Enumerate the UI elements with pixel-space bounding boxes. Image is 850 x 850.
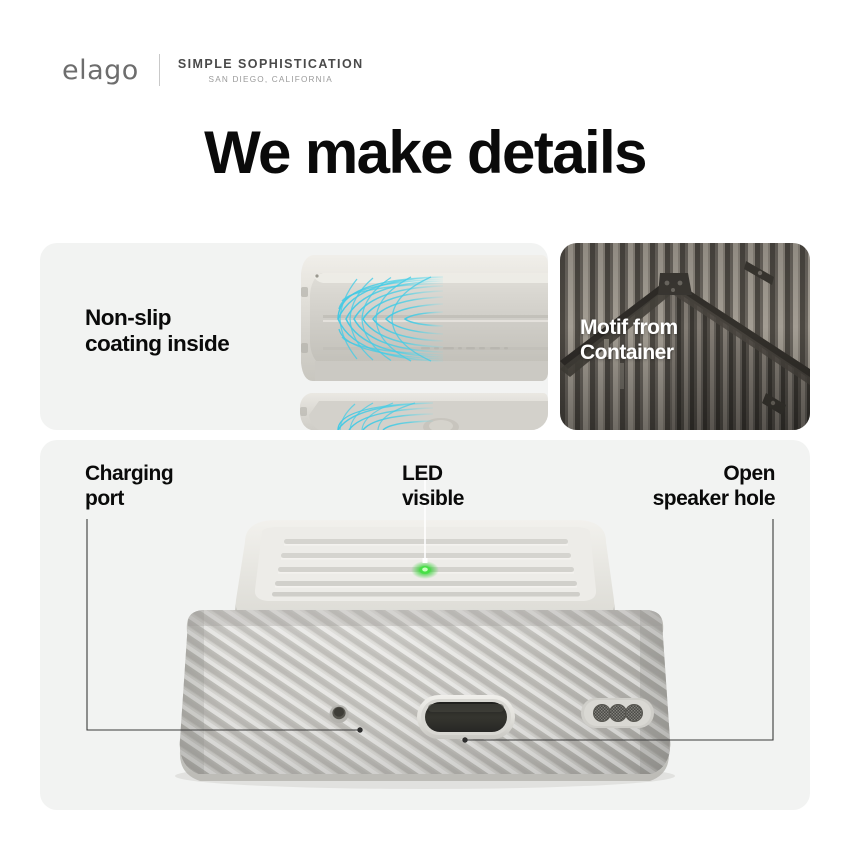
nonslip-card-label: Non-slip coating inside (85, 305, 229, 358)
feature-card-motif: Motif from Container (560, 243, 810, 430)
callout-led-visible: LED visible (402, 462, 464, 511)
microphone-hole-icon (330, 705, 349, 723)
brand-tagline: SIMPLE SOPHISTICATION (178, 57, 364, 71)
speaker-grille-three-holes-icon (581, 698, 654, 728)
vertical-divider-icon (159, 54, 160, 86)
feature-card-details: Charging port LED visible Open speaker h… (40, 440, 810, 810)
brand-text-block: SIMPLE SOPHISTICATION SAN DIEGO, CALIFOR… (178, 57, 364, 84)
brand-logo: elago (62, 57, 139, 84)
product-detail-poster: elago SIMPLE SOPHISTICATION SAN DIEGO, C… (0, 0, 850, 850)
motif-card-label: Motif from Container (580, 316, 678, 365)
callout-speaker-hole: Open speaker hole (653, 462, 775, 511)
page-title: We make details (0, 118, 850, 187)
led-indicator-icon (411, 561, 439, 579)
case-interior-grip-icon (293, 243, 548, 430)
brand-location: SAN DIEGO, CALIFORNIA (209, 75, 333, 84)
callout-charging-port: Charging port (85, 462, 173, 511)
brand-header: elago SIMPLE SOPHISTICATION SAN DIEGO, C… (62, 50, 364, 90)
feature-card-nonslip: Non-slip coating inside (40, 243, 548, 430)
usb-c-port-icon (417, 695, 515, 739)
